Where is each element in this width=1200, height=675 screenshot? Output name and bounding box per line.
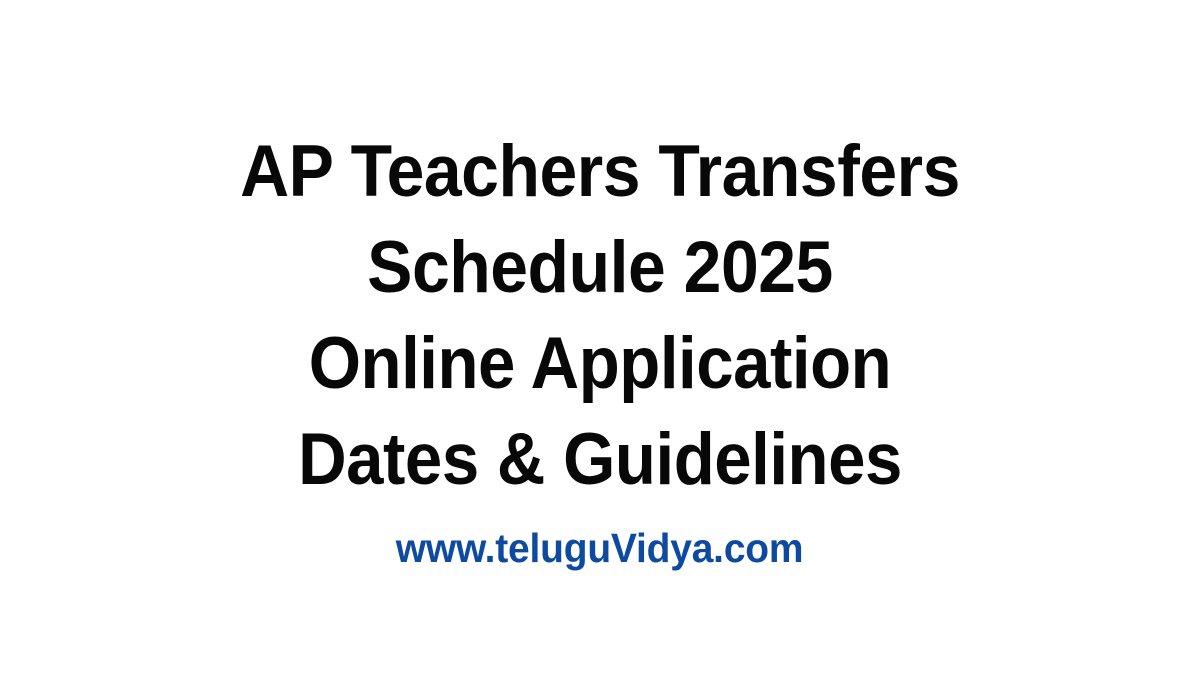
- headline-line-1: AP Teachers Transfers: [42, 124, 1158, 220]
- site-url-link[interactable]: www.teluguVidya.com: [396, 522, 804, 574]
- headline-line-4: Dates & Guidelines: [48, 412, 1152, 508]
- headline-block: AP Teachers Transfers Schedule 2025 Onli…: [0, 124, 1200, 508]
- headline-line-2: Schedule 2025: [42, 220, 1158, 316]
- site-url-row: www.teluguVidya.com: [0, 522, 1200, 574]
- poster-canvas: AP Teachers Transfers Schedule 2025 Onli…: [0, 0, 1200, 675]
- headline-line-3: Online Application: [48, 316, 1152, 412]
